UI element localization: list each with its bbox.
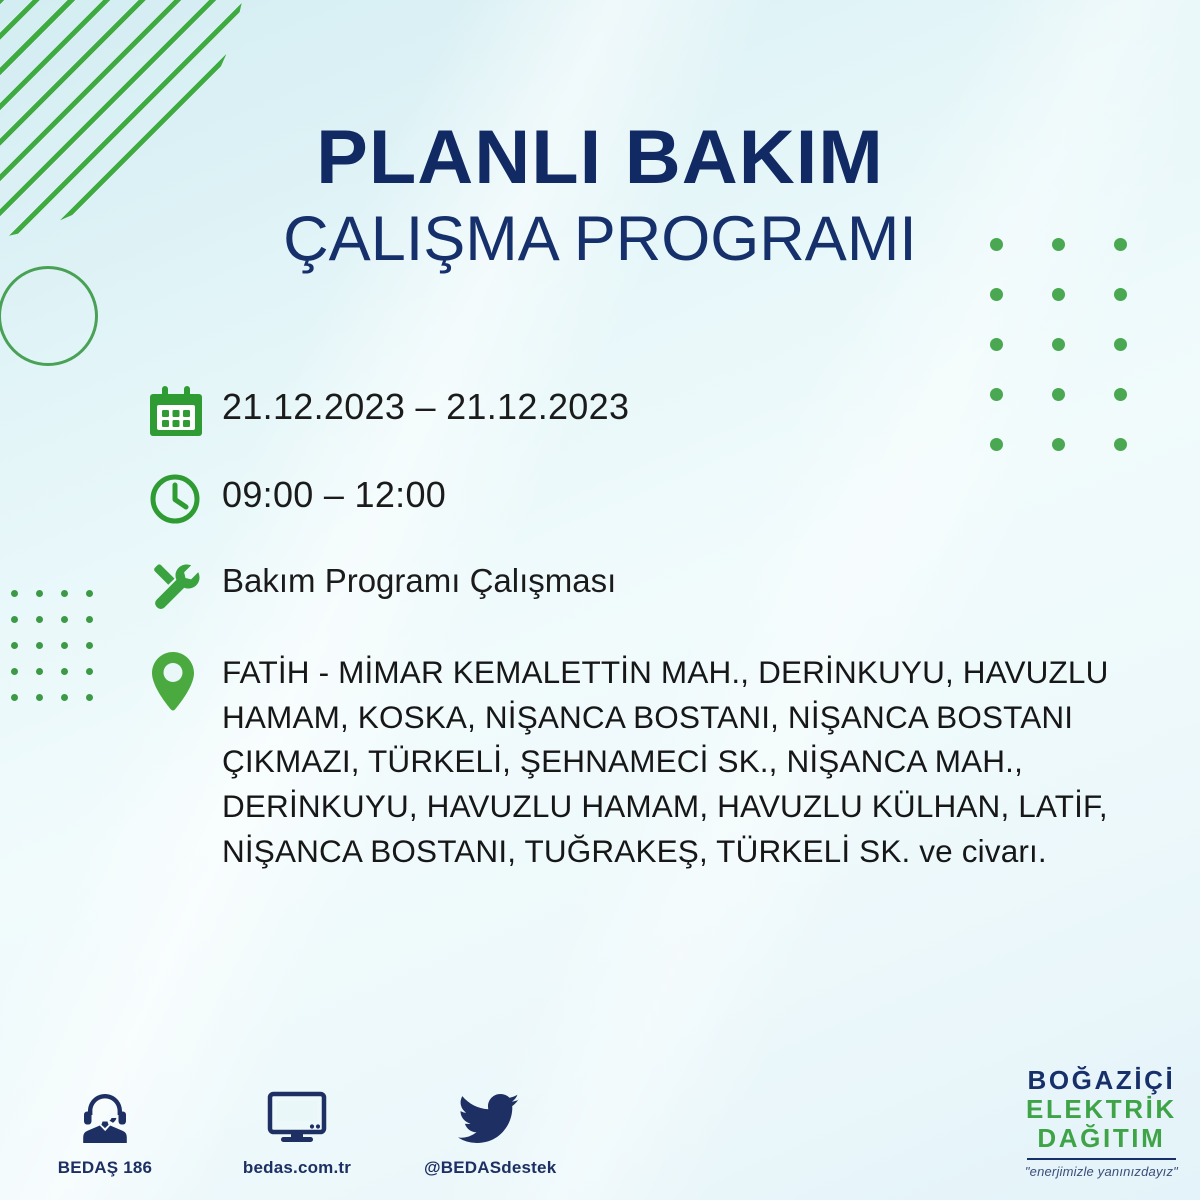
clock-icon [148,468,222,530]
details-list: 21.12.2023 – 21.12.2023 09:00 – 12:00 [148,380,1158,900]
logo-line-dagitim: DAĞITIM [1025,1125,1178,1151]
logo-line-elektrik: ELEKTRİK [1025,1096,1178,1122]
calendar-icon [148,380,222,442]
detail-row-date: 21.12.2023 – 21.12.2023 [148,380,1158,442]
work-type-value: Bakım Programı Çalışması [222,556,616,601]
circle-ring-decoration [0,266,98,366]
title-subtitle: ÇALIŞMA PROGRAMI [0,200,1200,279]
dot-grid-left-decoration [0,590,111,720]
title-main: PLANLI BAKIM [0,120,1200,196]
location-pin-icon [148,644,222,714]
poster-canvas: PLANLI BAKIM ÇALIŞMA PROGRAMI [0,0,1200,1200]
time-value: 09:00 – 12:00 [222,468,446,516]
logo-line-bogazici: BOĞAZİÇİ [1025,1067,1178,1093]
detail-row-location: FATİH - MİMAR KEMALETTİN MAH., DERİNKUYU… [148,644,1158,874]
call-center-agent-icon [40,1084,170,1146]
contact-phone[interactable]: BEDAŞ 186 [40,1084,170,1178]
contact-phone-label: BEDAŞ 186 [40,1158,170,1178]
monitor-icon [232,1084,362,1146]
footer-contacts: BEDAŞ 186 bedas.com.tr @B [40,1084,554,1178]
contact-website-label: bedas.com.tr [232,1158,362,1178]
contact-twitter-label: @BEDASdestek [424,1158,554,1178]
detail-row-time: 09:00 – 12:00 [148,468,1158,530]
contact-twitter[interactable]: @BEDASdestek [424,1084,554,1178]
page-title: PLANLI BAKIM ÇALIŞMA PROGRAMI [0,120,1200,279]
bedas-logo: BOĞAZİÇİ ELEKTRİK DAĞITIM "enerjimizle y… [1025,1067,1178,1178]
date-value: 21.12.2023 – 21.12.2023 [222,380,629,428]
tools-icon [148,556,222,618]
location-value: FATİH - MİMAR KEMALETTİN MAH., DERİNKUYU… [222,644,1158,874]
detail-row-work-type: Bakım Programı Çalışması [148,556,1158,618]
logo-tagline: "enerjimizle yanınızdayız" [1025,1165,1178,1178]
twitter-bird-icon [424,1084,554,1146]
logo-divider [1027,1158,1176,1160]
contact-website[interactable]: bedas.com.tr [232,1084,362,1178]
